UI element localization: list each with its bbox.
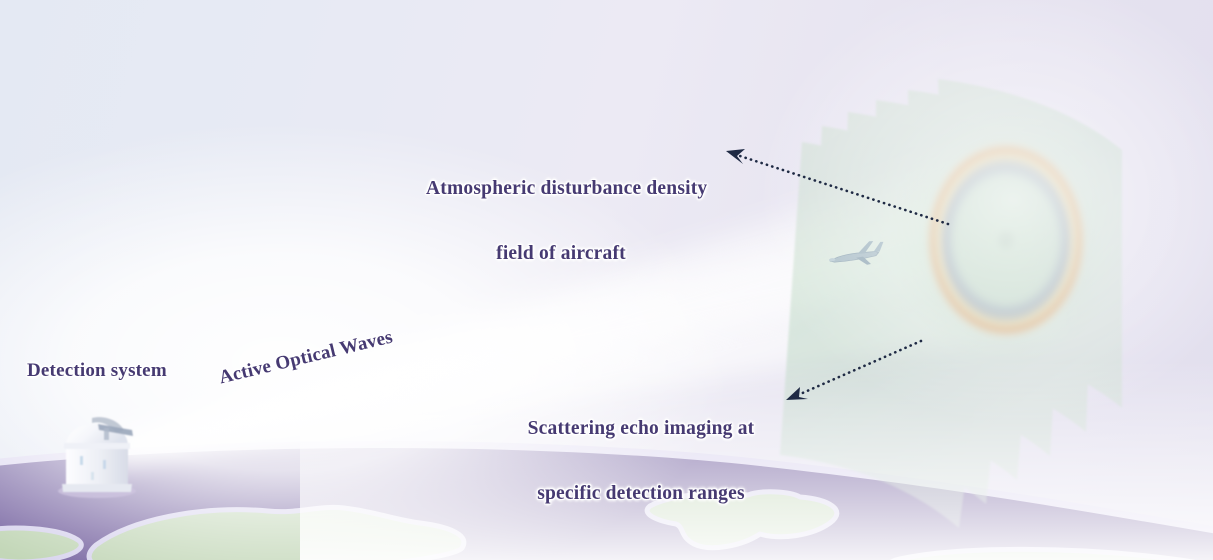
aircraft-icon (827, 240, 886, 270)
label-scattering-echo: Scattering echo imaging at specific dete… (524, 374, 758, 549)
dome-ring (64, 443, 130, 449)
landmass (89, 507, 464, 560)
dome-cap (66, 424, 128, 447)
telescope-mount (104, 428, 109, 440)
label-line: specific detection ranges (524, 483, 758, 505)
label-active-optical-waves: Active Optical Waves (217, 326, 395, 388)
dome-body (66, 444, 128, 491)
field-core-glow (888, 112, 1124, 368)
dome-window (91, 472, 94, 480)
landmass (0, 528, 81, 560)
label-line: Atmospheric disturbance density (426, 178, 696, 200)
label-detection-system: Detection system (27, 360, 167, 381)
dome-base-shadow (58, 484, 136, 498)
dome-base-lip (62, 484, 132, 492)
landmass (888, 549, 1213, 560)
haze-right-wash (693, 0, 1213, 480)
dome-window (103, 460, 106, 469)
diagram-canvas: Atmospheric disturbance density field of… (0, 0, 1213, 560)
dome-window (80, 456, 83, 465)
dome-slit (92, 417, 124, 433)
scattering-echo-ring (926, 142, 1086, 338)
arrow-to-disturbance-label (726, 149, 948, 224)
arrow-to-scattering-label (786, 341, 921, 400)
field-slice (840, 112, 1042, 480)
field-slice (780, 142, 1000, 528)
label-atmospheric-disturbance: Atmospheric disturbance density field of… (426, 134, 696, 309)
field-slice (874, 100, 1067, 456)
telescope-instrument (98, 424, 133, 436)
field-slice (808, 126, 1018, 504)
field-slice (938, 79, 1122, 408)
label-line: Scattering echo imaging at (524, 418, 758, 440)
label-line: field of aircraft (426, 243, 696, 265)
field-slice (908, 90, 1096, 432)
